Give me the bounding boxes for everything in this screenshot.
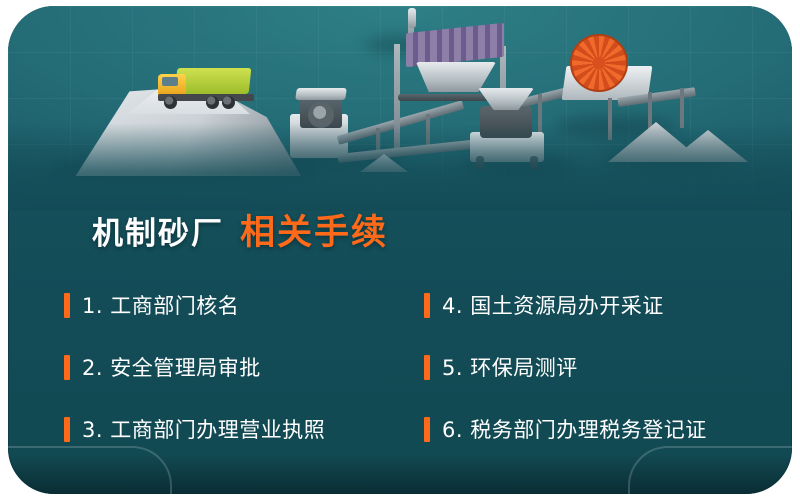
bullet-marker — [424, 417, 430, 442]
dump-truck-wheel — [222, 96, 235, 109]
screenshot-root: 机制砂厂 相关手续 1. 工商部门核名 4. 国土资源局办开采证 2. 安全管理… — [0, 0, 800, 500]
list-item: 4. 国土资源局办开采证 — [424, 290, 754, 320]
infographic-card: 机制砂厂 相关手续 1. 工商部门核名 4. 国土资源局办开采证 2. 安全管理… — [8, 6, 792, 494]
bullet-marker — [64, 293, 70, 318]
title-white-part: 机制砂厂 — [92, 208, 224, 253]
list-item: 2. 安全管理局审批 — [64, 352, 424, 382]
list-item: 1. 工商部门核名 — [64, 290, 424, 320]
list-item: 6. 税务部门办理税务登记证 — [424, 414, 754, 444]
conveyor-leg — [680, 88, 684, 128]
decor-rail-left — [8, 446, 172, 494]
list-item-label: 3. 工商部门办理营业执照 — [82, 414, 325, 444]
title-orange-part: 相关手续 — [240, 204, 388, 255]
tower-cabin — [408, 8, 416, 28]
bullet-marker — [424, 293, 430, 318]
sand-washer-wheel — [570, 34, 628, 92]
list-item-label: 2. 安全管理局审批 — [82, 352, 261, 382]
list-item-label: 1. 工商部门核名 — [82, 290, 239, 320]
list-item-label: 5. 环保局测评 — [442, 352, 578, 382]
list-item: 5. 环保局测评 — [424, 352, 754, 382]
decor-rail-right — [628, 446, 792, 494]
bullet-marker — [424, 355, 430, 380]
bullet-marker — [64, 417, 70, 442]
bullet-marker — [64, 355, 70, 380]
scene-gradient-fade — [8, 123, 792, 211]
dump-truck-wheel — [164, 96, 177, 109]
dump-truck-bed — [175, 68, 252, 94]
jaw-crusher-hopper — [295, 88, 347, 100]
list-item-label: 6. 税务部门办理税务登记证 — [442, 414, 707, 444]
dump-truck-wheel — [206, 96, 219, 109]
list-item: 3. 工商部门办理营业执照 — [64, 414, 424, 444]
dump-truck-window — [162, 77, 178, 86]
procedure-list: 1. 工商部门核名 4. 国土资源局办开采证 2. 安全管理局审批 5. 环保局… — [64, 274, 754, 460]
page-title: 机制砂厂 相关手续 — [92, 204, 388, 255]
list-item-label: 4. 国土资源局办开采证 — [442, 290, 664, 320]
production-line-scene — [8, 6, 792, 211]
